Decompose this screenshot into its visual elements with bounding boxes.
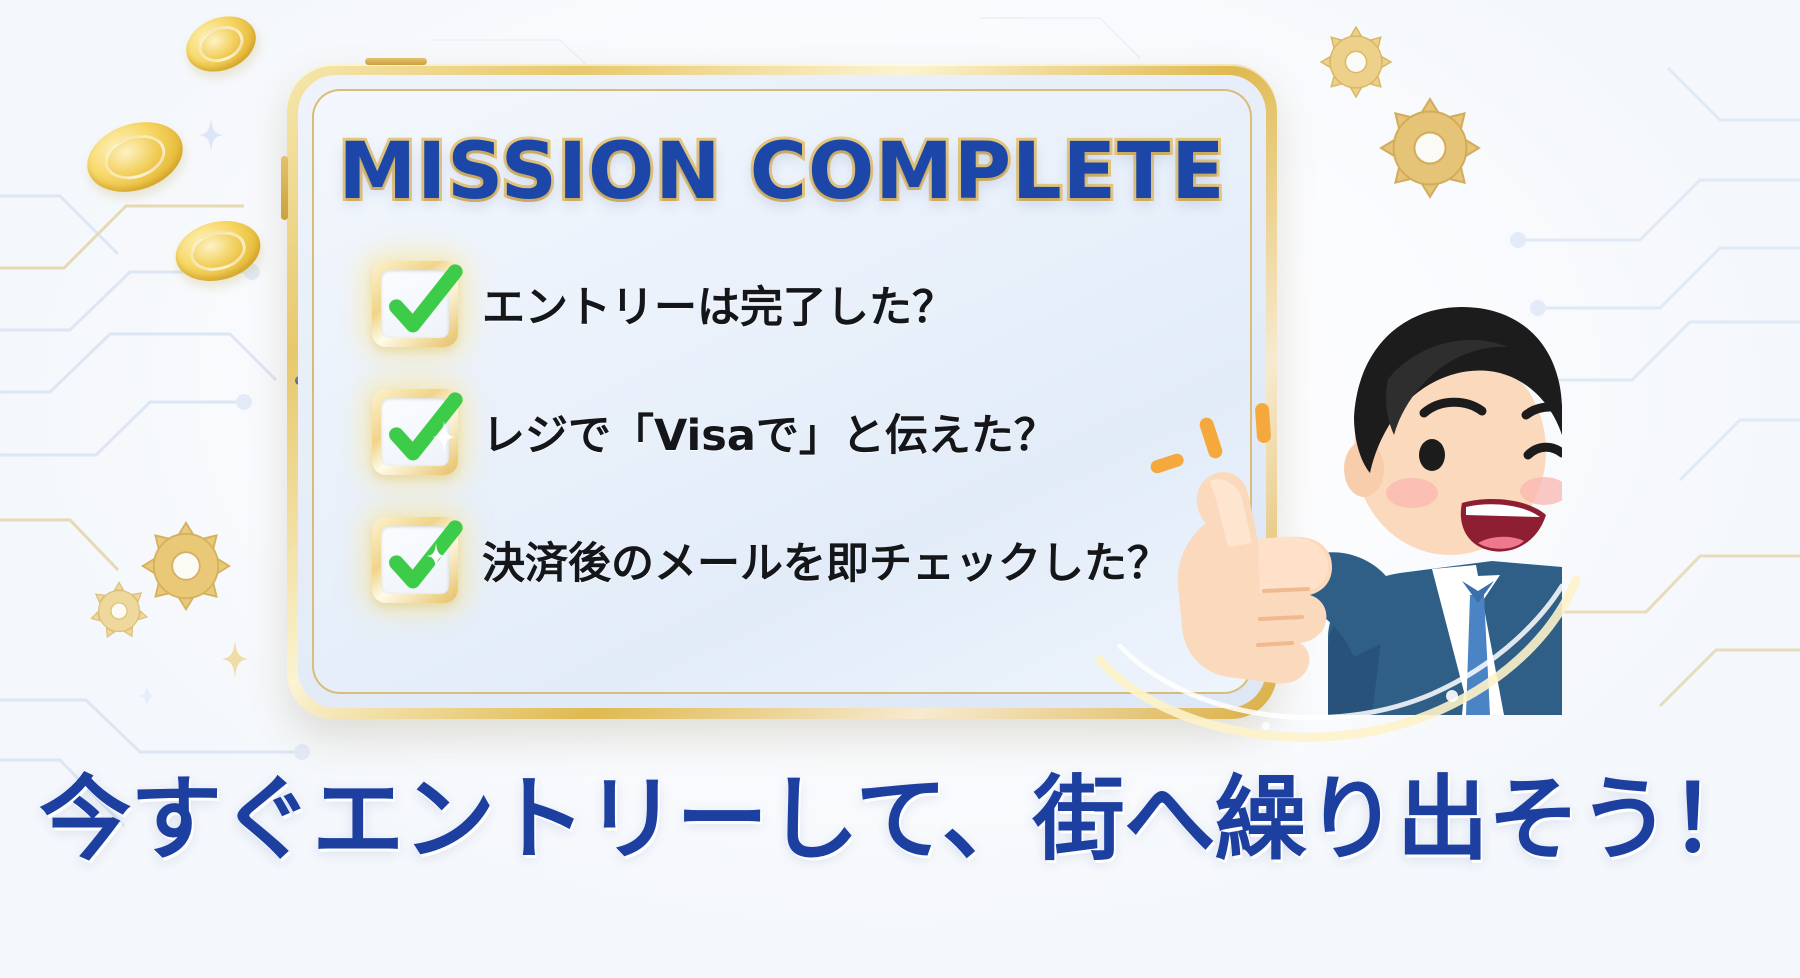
checked-checkbox-icon	[372, 261, 458, 347]
gold-coin	[178, 6, 264, 81]
list-item: 決済後のメールを即チェックした？	[372, 517, 1210, 603]
banner-canvas: MISSION COMPLETE エントリーは完了した？ レジで「Visaで」と…	[0, 0, 1800, 978]
tablet-bezel: MISSION COMPLETE エントリーは完了した？ レジで「Visaで」と…	[298, 75, 1266, 708]
sparkle-icon	[220, 640, 250, 678]
tablet-device: MISSION COMPLETE エントリーは完了した？ レジで「Visaで」と…	[287, 64, 1277, 719]
sparkle-icon	[432, 421, 456, 453]
sparkle-icon	[426, 543, 446, 569]
gear-icon	[88, 580, 150, 642]
tablet-top-button	[365, 58, 427, 65]
checklist-label: エントリーは完了した？	[482, 273, 955, 335]
page-title: MISSION COMPLETE	[314, 127, 1250, 217]
gold-coin	[78, 110, 192, 203]
gear-icon	[1378, 96, 1482, 200]
gold-coin	[169, 212, 266, 289]
list-item: エントリーは完了した？	[372, 261, 1210, 347]
checklist: エントリーは完了した？ レジで「Visaで」と伝えた？ 決済後のメールを即チェッ…	[372, 261, 1210, 645]
businessman-thumbs-up-illustration	[1132, 285, 1562, 715]
thumbs-up-icon	[1178, 472, 1332, 683]
sparkle-icon	[198, 118, 224, 152]
gear-icon	[140, 520, 232, 612]
gear-icon	[1318, 24, 1394, 100]
bottom-headline: 今すぐエントリーして、街へ繰り出そう！	[0, 745, 1800, 878]
list-item: レジで「Visaで」と伝えた？	[372, 389, 1210, 475]
tablet-side-button	[281, 156, 288, 220]
checklist-label: 決済後のメールを即チェックした？	[482, 529, 1170, 591]
sparkle-icon	[138, 684, 156, 708]
emphasis-marks-icon	[1149, 403, 1271, 475]
tablet-screen: MISSION COMPLETE エントリーは完了した？ レジで「Visaで」と…	[312, 89, 1252, 694]
checklist-label: レジで「Visaで」と伝えた？	[482, 401, 1057, 463]
